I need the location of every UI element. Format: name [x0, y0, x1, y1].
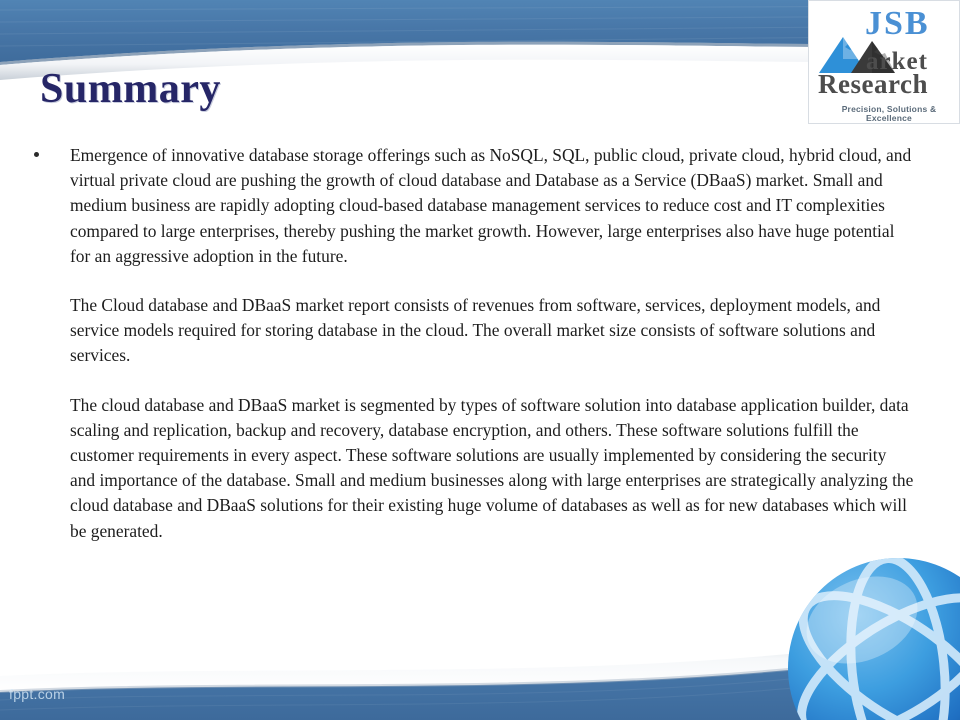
bullet-list-item: Emergence of innovative database storage…	[28, 143, 923, 544]
paragraph-1: Emergence of innovative database storage…	[70, 143, 915, 269]
blue-globe-graphic	[780, 554, 960, 720]
logo-container: JSB arket Research Precision, Solutions …	[808, 0, 960, 124]
slide-body: Emergence of innovative database storage…	[28, 143, 923, 544]
paragraph-3: The cloud database and DBaaS market is s…	[70, 393, 915, 544]
paragraph-2: The Cloud database and DBaaS market repo…	[70, 293, 915, 369]
logo-research-text: Research	[818, 71, 928, 98]
logo-tagline: Precision, Solutions & Excellence	[819, 105, 959, 122]
slide-canvas: JSB arket Research Precision, Solutions …	[0, 0, 960, 720]
logo-jsb-text: JSB	[865, 7, 930, 41]
page-title: Summary	[40, 68, 221, 110]
fppt-watermark: fppt.com	[9, 687, 65, 701]
bullet-dot-icon	[34, 152, 39, 157]
